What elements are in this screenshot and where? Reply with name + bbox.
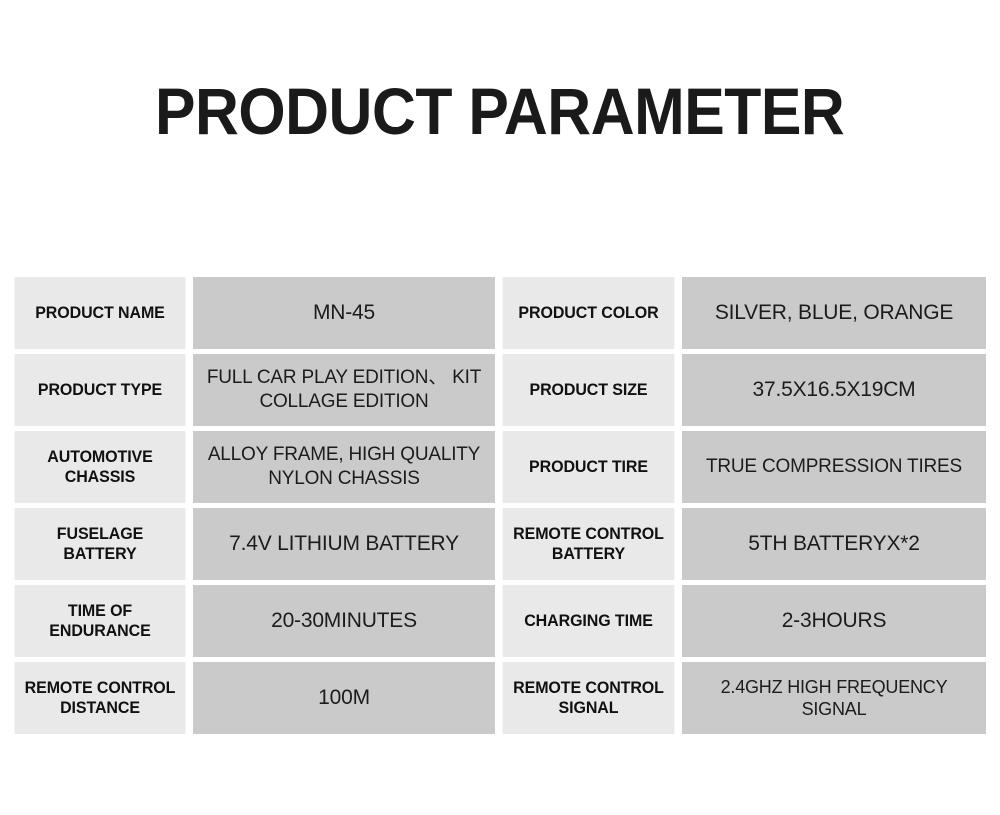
spec-value-time-of-endurance: 20-30MINUTES [193,585,495,657]
spec-value-product-name: MN-45 [193,277,495,349]
table-row: TIME OF ENDURANCE 20-30MINUTES CHARGING … [12,585,986,657]
spec-value-product-size: 37.5X16.5X19CM [682,354,986,426]
spec-label-remote-control-battery: REMOTE CONTROL BATTERY [503,508,675,580]
table-row: REMOTE CONTROL DISTANCE 100M REMOTE CONT… [12,662,986,734]
spec-value-product-color: SILVER, BLUE, ORANGE [682,277,986,349]
table-row: PRODUCT TYPE FULL CAR PLAY EDITION、 KIT … [12,354,986,426]
spec-label-product-color: PRODUCT COLOR [503,277,675,349]
spec-value-product-tire: TRUE COMPRESSION TIRES [682,431,986,503]
spec-label-product-name: PRODUCT NAME [15,277,186,349]
spec-label-remote-control-signal: REMOTE CONTROL SIGNAL [503,662,675,734]
spec-value-product-type: FULL CAR PLAY EDITION、 KIT COLLAGE EDITI… [193,354,495,426]
spec-value-remote-control-signal: 2.4GHZ HIGH FREQUENCY SIGNAL [682,662,986,734]
spec-label-product-size: PRODUCT SIZE [503,354,675,426]
page-title: PRODUCT PARAMETER [155,78,844,144]
spec-label-charging-time: CHARGING TIME [503,585,675,657]
spec-value-remote-control-distance: 100M [193,662,495,734]
spec-value-automotive-chassis: ALLOY FRAME, HIGH QUALITY NYLON CHASSIS [193,431,495,503]
spec-label-fuselage-battery: FUSELAGE BATTERY [15,508,186,580]
table-row: PRODUCT NAME MN-45 PRODUCT COLOR SILVER,… [12,277,986,349]
spec-label-product-tire: PRODUCT TIRE [503,431,675,503]
table-row: FUSELAGE BATTERY 7.4V LITHIUM BATTERY RE… [12,508,986,580]
table-row: AUTOMOTIVE CHASSIS ALLOY FRAME, HIGH QUA… [12,431,986,503]
spec-value-remote-control-battery: 5TH BATTERYX*2 [682,508,986,580]
spec-value-fuselage-battery: 7.4V LITHIUM BATTERY [193,508,495,580]
spec-label-remote-control-distance: REMOTE CONTROL DISTANCE [15,662,186,734]
specification-table: PRODUCT NAME MN-45 PRODUCT COLOR SILVER,… [12,277,986,734]
spec-label-time-of-endurance: TIME OF ENDURANCE [15,585,186,657]
page-title-container: PRODUCT PARAMETER [0,78,1000,144]
spec-label-automotive-chassis: AUTOMOTIVE CHASSIS [15,431,186,503]
spec-label-product-type: PRODUCT TYPE [15,354,186,426]
spec-value-charging-time: 2-3HOURS [682,585,986,657]
product-parameter-page: PRODUCT PARAMETER PRODUCT NAME MN-45 PRO… [0,0,1000,815]
